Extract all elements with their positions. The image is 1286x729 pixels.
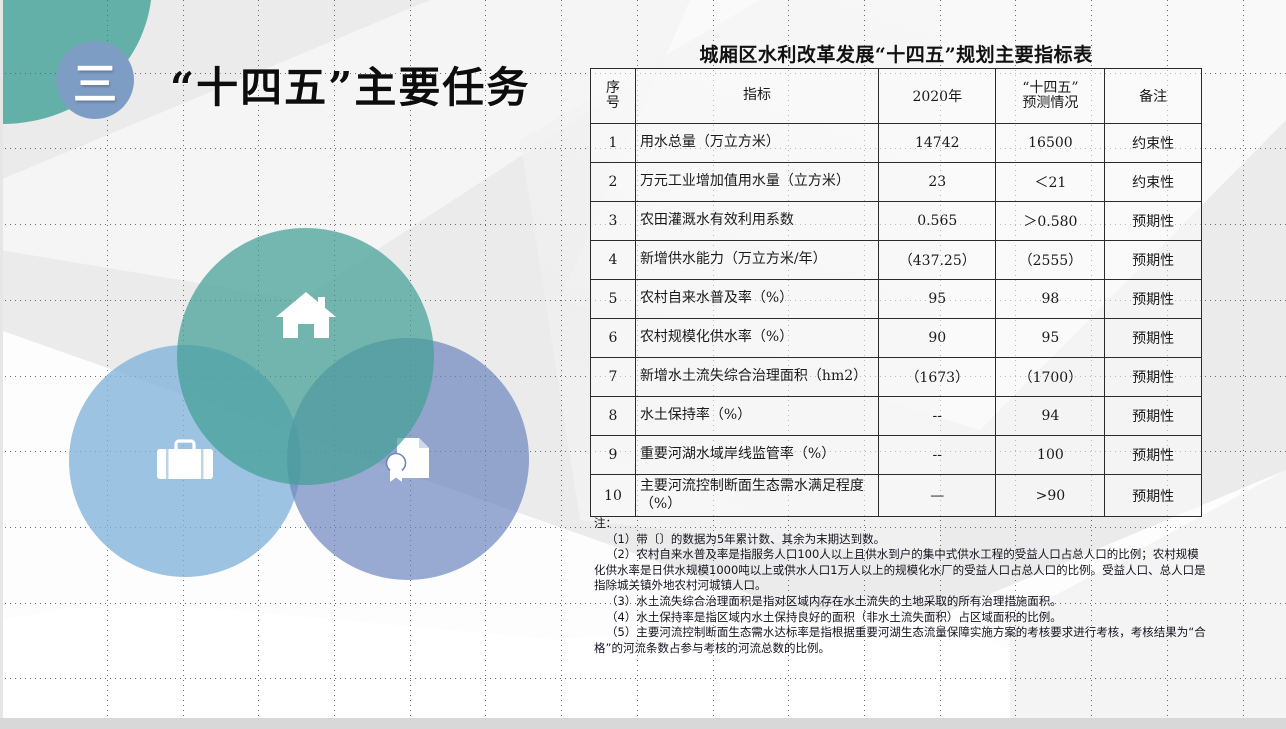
cell-prediction: 100 — [996, 436, 1105, 475]
cell-note: 预期性 — [1105, 280, 1202, 319]
cell-indicator: 水土保持率（%） — [635, 397, 878, 436]
table-row: 4新增供水能力（万立方米/年）（437.25）（2555）预期性 — [591, 241, 1202, 280]
page-title: “十四五”主要任务 — [170, 54, 530, 115]
section-number-label: 三 — [73, 48, 117, 112]
cell-indicator: 农田灌溉水有效利用系数 — [635, 202, 878, 241]
table-row: 2万元工业增加值用水量（立方米）23＜21约束性 — [591, 163, 1202, 202]
note-item-4: （4）水土保持率是指区域内水土保持良好的面积（非水土流失面积）占区域面积的比例。 — [594, 610, 1208, 626]
slide-canvas: 三 “十四五”主要任务 — [0, 0, 1286, 729]
header-cell-no: 序 号 — [591, 69, 636, 124]
cell-no: 8 — [591, 397, 636, 436]
cell-note: 预期性 — [1105, 397, 1202, 436]
cell-2020: 95 — [879, 280, 996, 319]
table-row: 6农村规模化供水率（%）9095预期性 — [591, 319, 1202, 358]
cell-2020: 90 — [879, 319, 996, 358]
indicator-table: 序 号 指标 2020年 “十四五” 预测情况 备注 1用水总量（万立方米）14… — [590, 68, 1202, 517]
cell-indicator: 用水总量（万立方米） — [635, 124, 878, 163]
cell-note: 约束性 — [1105, 124, 1202, 163]
table-row: 9重要河湖水域岸线监管率（%）--100预期性 — [591, 436, 1202, 475]
cell-no: 7 — [591, 358, 636, 397]
table-title: 城厢区水利改革发展“十四五”规划主要指标表 — [590, 40, 1202, 67]
table-body: 序 号 指标 2020年 “十四五” 预测情况 备注 1用水总量（万立方米）14… — [591, 69, 1202, 517]
cell-no: 5 — [591, 280, 636, 319]
header-pred-line1: “十四五” — [1000, 81, 1100, 96]
header-cell-2020: 2020年 — [879, 69, 996, 124]
note-item-5: （5）主要河流控制断面生态需水达标率是指根据重要河湖生态流量保障实施方案的考核要… — [594, 625, 1208, 656]
cell-2020: — — [879, 475, 996, 517]
cell-no: 9 — [591, 436, 636, 475]
table-notes: 注： （1）带〔〕的数据为5年累计数、其余为末期达到数。 （2）农村自来水普及率… — [594, 516, 1208, 656]
header-no-line2: 号 — [595, 96, 631, 111]
note-item-1: （1）带〔〕的数据为5年累计数、其余为末期达到数。 — [594, 532, 1208, 548]
cell-prediction: 16500 — [996, 124, 1105, 163]
cell-2020: -- — [879, 397, 996, 436]
table-row: 3农田灌溉水有效利用系数0.565＞0.580预期性 — [591, 202, 1202, 241]
cell-no: 10 — [591, 475, 636, 517]
note-item-2: （2）农村自来水普及率是指服务人口100人以上且供水到户的集中式供水工程的受益人… — [594, 547, 1208, 594]
table-row: 1用水总量（万立方米）1474216500约束性 — [591, 124, 1202, 163]
cell-prediction: 98 — [996, 280, 1105, 319]
cell-prediction: ＜21 — [996, 163, 1105, 202]
cell-note: 预期性 — [1105, 358, 1202, 397]
table-row: 10主要河流控制断面生态需水满足程度（%）—>90预期性 — [591, 475, 1202, 517]
header-cell-note: 备注 — [1105, 69, 1202, 124]
cell-indicator: 万元工业增加值用水量（立方米） — [635, 163, 878, 202]
cell-no: 3 — [591, 202, 636, 241]
cell-prediction: 94 — [996, 397, 1105, 436]
cell-2020: 0.565 — [879, 202, 996, 241]
cell-note: 约束性 — [1105, 163, 1202, 202]
cell-no: 1 — [591, 124, 636, 163]
briefcase-icon — [154, 435, 216, 487]
header-pred-line2: 预测情况 — [1000, 96, 1100, 111]
cell-2020: （1673） — [879, 358, 996, 397]
cell-prediction: （2555） — [996, 241, 1105, 280]
cell-2020: 14742 — [879, 124, 996, 163]
section-number-badge: 三 — [56, 41, 134, 119]
cell-indicator: 新增水土流失综合治理面积（hm2） — [635, 358, 878, 397]
cell-prediction: >90 — [996, 475, 1105, 517]
table-row: 5农村自来水普及率（%）9598预期性 — [591, 280, 1202, 319]
home-icon — [273, 286, 339, 344]
home-circle — [177, 228, 434, 485]
note-item-3: （3）水土流失综合治理面积是指对区域内存在水土流失的土地采取的所有治理措施面积。 — [594, 594, 1208, 610]
header-no-line1: 序 — [595, 81, 631, 96]
cell-no: 6 — [591, 319, 636, 358]
cell-no: 4 — [591, 241, 636, 280]
cell-indicator: 农村规模化供水率（%） — [635, 319, 878, 358]
slide-bottom-trim — [0, 718, 1286, 729]
cell-prediction: ＞0.580 — [996, 202, 1105, 241]
header-cell-prediction: “十四五” 预测情况 — [996, 69, 1105, 124]
cell-indicator: 重要河湖水域岸线监管率（%） — [635, 436, 878, 475]
notes-label: 注： — [594, 516, 1208, 532]
cell-note: 预期性 — [1105, 241, 1202, 280]
slide-left-trim — [0, 0, 3, 718]
table-row: 8水土保持率（%）--94预期性 — [591, 397, 1202, 436]
cell-note: 预期性 — [1105, 436, 1202, 475]
cell-indicator: 主要河流控制断面生态需水满足程度（%） — [635, 475, 878, 517]
cell-indicator: 新增供水能力（万立方米/年） — [635, 241, 878, 280]
cell-note: 预期性 — [1105, 202, 1202, 241]
table-header-row: 序 号 指标 2020年 “十四五” 预测情况 备注 — [591, 69, 1202, 124]
cell-prediction: 95 — [996, 319, 1105, 358]
cell-note: 预期性 — [1105, 319, 1202, 358]
cell-note: 预期性 — [1105, 475, 1202, 517]
cell-2020: 23 — [879, 163, 996, 202]
cell-no: 2 — [591, 163, 636, 202]
header-cell-indicator: 指标 — [635, 69, 878, 124]
cell-prediction: （1700） — [996, 358, 1105, 397]
table-row: 7新增水土流失综合治理面积（hm2）（1673）（1700）预期性 — [591, 358, 1202, 397]
cell-2020: -- — [879, 436, 996, 475]
cell-2020: （437.25） — [879, 241, 996, 280]
cell-indicator: 农村自来水普及率（%） — [635, 280, 878, 319]
